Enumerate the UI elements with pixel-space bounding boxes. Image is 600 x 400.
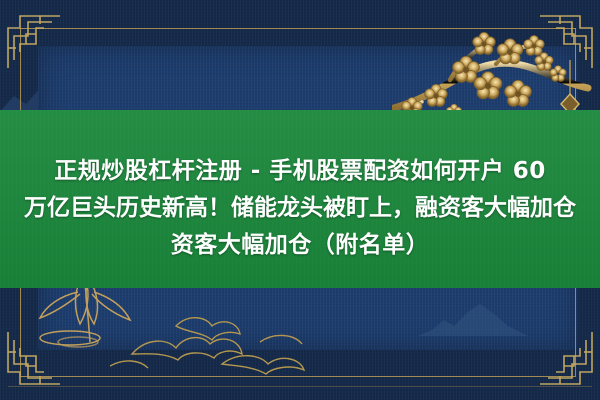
mountain-silhouette-icon — [418, 300, 528, 340]
headline-line-1: 正规炒股杠杆注册 - 手机股票配资如何开户 60 — [0, 153, 600, 190]
auspicious-cloud-icon — [110, 308, 340, 382]
banner-image: 正规炒股杠杆注册 - 手机股票配资如何开户 60 万亿巨头历史新高！储能龙头被盯… — [0, 0, 600, 400]
headline-text: 正规炒股杠杆注册 - 手机股票配资如何开户 60 万亿巨头历史新高！储能龙头被盯… — [0, 153, 600, 264]
headline-line-2: 万亿巨头历史新高！储能龙头被盯上，融资客大幅加仓 — [0, 190, 600, 227]
headline-line-3: 资客大幅加仓（附名单） — [0, 227, 600, 264]
chinese-fret-corner-icon — [538, 330, 594, 386]
chinese-fret-corner-icon — [6, 14, 62, 70]
gold-rule-bottom-outer — [8, 386, 592, 387]
